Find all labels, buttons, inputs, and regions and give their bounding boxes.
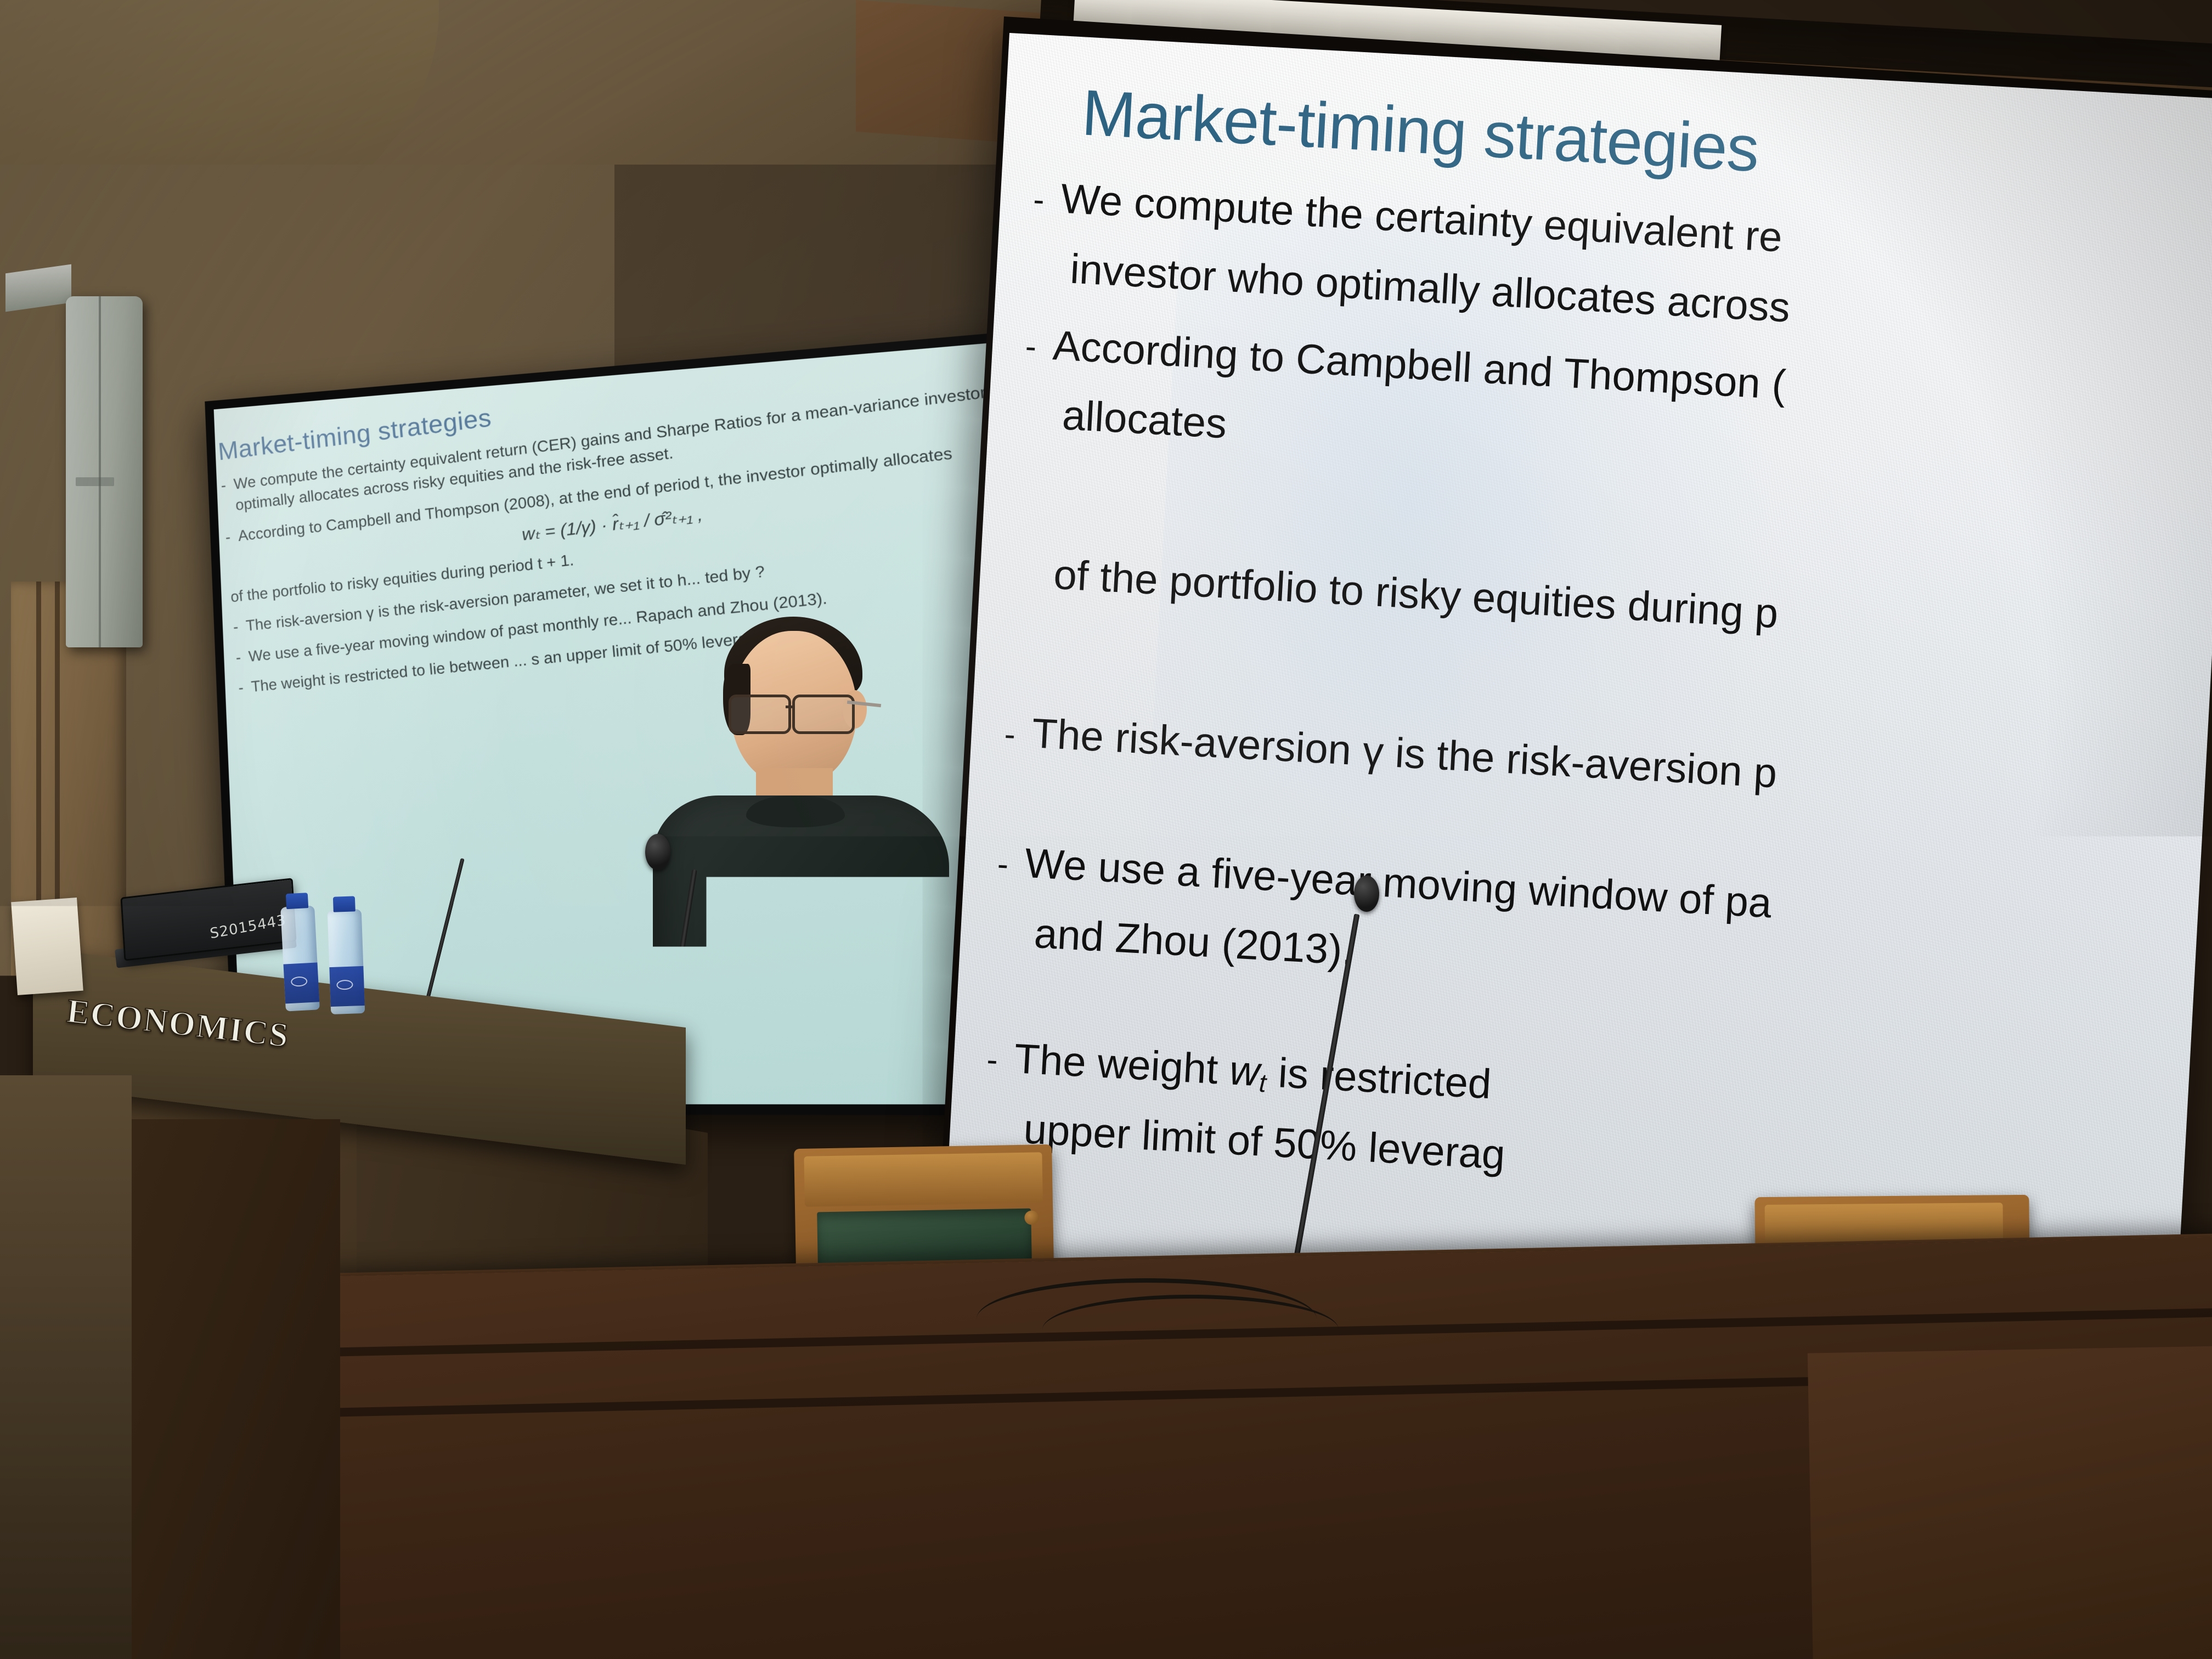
power-cable xyxy=(384,1042,509,1306)
bullet-dash: - xyxy=(220,475,229,518)
bottle-cap xyxy=(333,896,356,912)
wall-loudspeaker xyxy=(66,296,143,647)
glasses-bridge xyxy=(786,706,794,708)
bullet-dash: - xyxy=(1024,317,1038,372)
paper-sheet xyxy=(11,898,83,995)
glasses-left-lens xyxy=(729,695,791,734)
bottle-label xyxy=(329,966,364,1007)
desk-right-panel xyxy=(1808,1346,2212,1659)
weight-text-a: The weight xyxy=(1013,1036,1231,1094)
glasses-icon xyxy=(729,695,860,730)
bullet-dash: - xyxy=(224,526,231,548)
water-bottle[interactable] xyxy=(328,909,365,1014)
bullet-dash: - xyxy=(1003,705,1017,760)
bullet-dash: - xyxy=(233,616,239,638)
tshirt-sleeve xyxy=(856,905,963,1108)
lecture-hall-photo: Market-timing strategies - We compute th… xyxy=(0,0,2212,1659)
bullet-dash: - xyxy=(985,1031,999,1086)
bullet-dash: - xyxy=(235,646,241,668)
floor-left xyxy=(0,1075,132,1659)
glasses-right-lens xyxy=(792,695,855,734)
chair-top-rail xyxy=(804,1152,1043,1207)
loudspeaker-badge xyxy=(76,477,114,486)
weight-text-b: is restricted xyxy=(1266,1049,1493,1108)
bullet-dash: - xyxy=(1032,171,1046,225)
bottle-label xyxy=(284,962,320,1003)
weight-symbol: w xyxy=(1228,1047,1261,1096)
podium-mic-head xyxy=(645,834,670,870)
water-bottle[interactable] xyxy=(280,906,320,1012)
bottle-cap xyxy=(286,893,308,909)
table-mic-head xyxy=(1354,876,1379,912)
bullet-dash: - xyxy=(238,677,244,699)
tshirt-collar xyxy=(746,795,845,827)
bullet-dash: - xyxy=(996,835,1010,890)
laptop-asset-tag: S2015443 xyxy=(209,912,287,942)
av-cable-2 xyxy=(1042,1295,1339,1364)
